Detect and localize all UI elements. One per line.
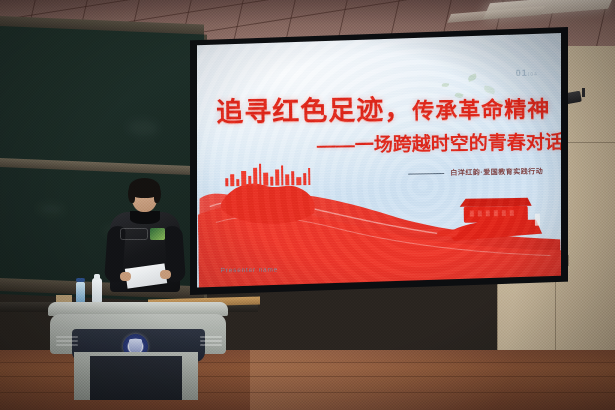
- podium-pedestal-inset: [90, 356, 182, 400]
- slide-section-number: 01/04: [516, 68, 538, 78]
- led-presentation-screen[interactable]: 01/04 追寻红色足迹，传承革命精神 ——一场跨越时空的青春对话 白洋红韵·爱…: [197, 32, 561, 288]
- speaker-mount-arm: [582, 88, 585, 97]
- red-boat-graphic: [436, 198, 543, 242]
- speaker-hair-right: [154, 186, 161, 203]
- speaker-hand-left: [120, 272, 131, 281]
- speaker-hand-right: [160, 270, 171, 279]
- water-bottle-cap: [76, 278, 85, 282]
- water-bottle: [76, 282, 85, 304]
- hand-sanitizer-bottle: [92, 278, 102, 304]
- speaker-hair-left: [128, 186, 135, 203]
- leaf-accent-icon: [467, 73, 477, 82]
- jacket-collar: [130, 211, 160, 224]
- chalk-smudge: [38, 204, 64, 215]
- jacket-embroidery: [120, 228, 148, 240]
- slide-presenter-placeholder: Presenter name: [221, 267, 279, 275]
- classroom-photo-scene: 01/04 追寻红色足迹，传承革命精神 ——一场跨越时空的青春对话 白洋红韵·爱…: [0, 0, 615, 410]
- hand-sanitizer-pump: [94, 274, 100, 280]
- jacket-patch: [150, 228, 165, 240]
- red-ribbon-artwork: [197, 135, 561, 288]
- chalk-smudge: [128, 119, 158, 136]
- slide-content: 01/04 追寻红色足迹，传承革命精神 ——一场跨越时空的青春对话 白洋红韵·爱…: [197, 32, 561, 288]
- lecture-podium: [48, 302, 228, 400]
- red-ribbon-svg: [197, 135, 561, 288]
- slide-main-title: 追寻红色足迹，传承革命精神: [216, 85, 551, 129]
- floor-reflection: [250, 350, 615, 410]
- student-speaker: [104, 178, 188, 306]
- podium-front-body: [50, 314, 226, 354]
